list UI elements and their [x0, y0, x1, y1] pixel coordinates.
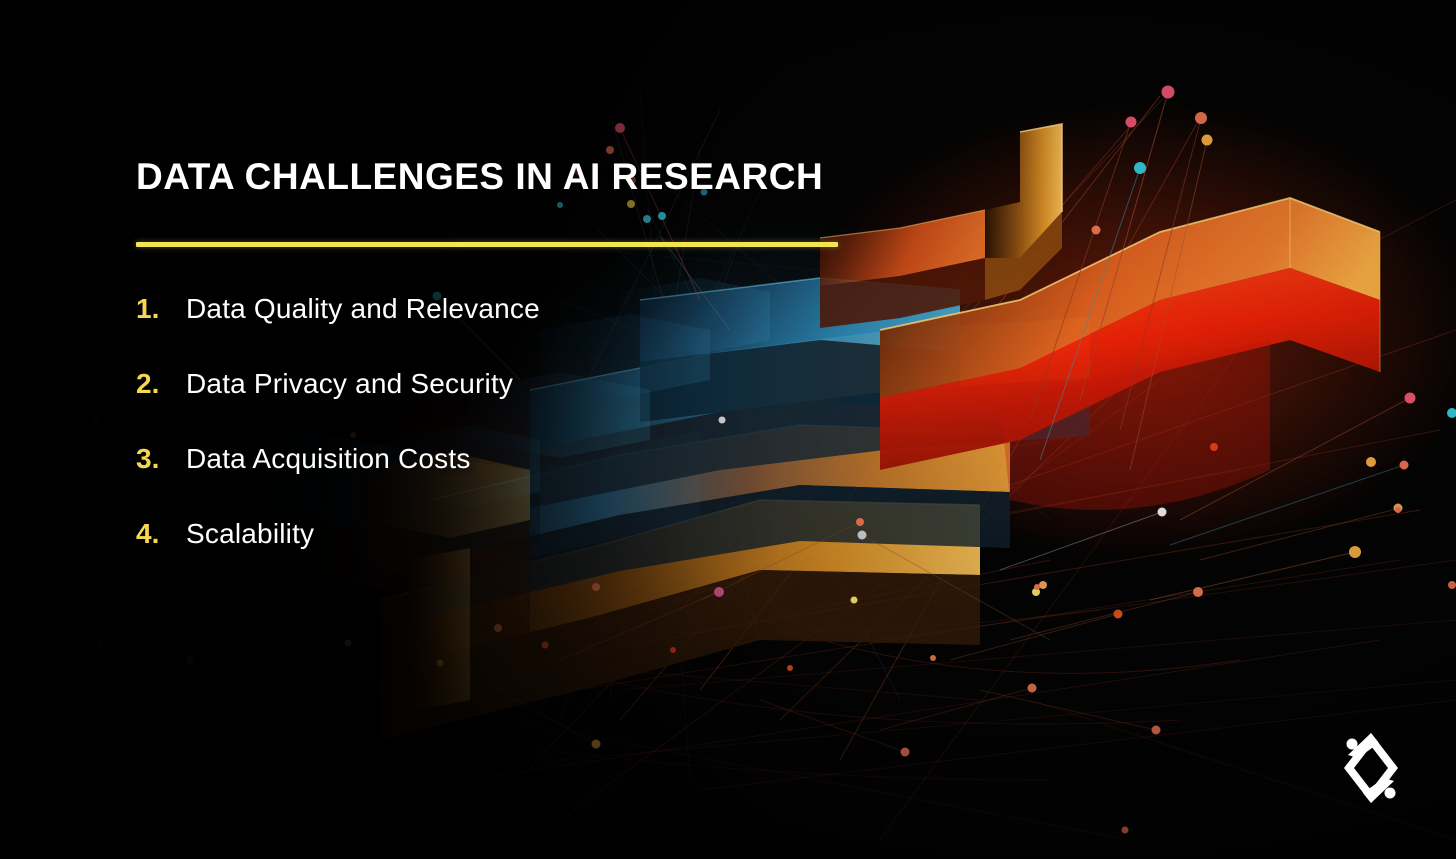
title-divider: [136, 242, 838, 247]
list-item: 2. Data Privacy and Security: [136, 368, 896, 400]
list-item-number: 1.: [136, 293, 186, 325]
page-title: DATA CHALLENGES IN AI RESEARCH: [136, 158, 896, 197]
list-item-label: Data Acquisition Costs: [186, 443, 471, 475]
list-item: 1. Data Quality and Relevance: [136, 293, 896, 325]
brand-logo-diamond-s-icon: [1338, 727, 1404, 809]
brand-logo: [1338, 727, 1404, 809]
list-item-number: 3.: [136, 443, 186, 475]
list-item-label: Data Privacy and Security: [186, 368, 513, 400]
list-item-number: 4.: [136, 518, 186, 550]
list-item-number: 2.: [136, 368, 186, 400]
list-item: 3. Data Acquisition Costs: [136, 443, 896, 475]
slide-content: DATA CHALLENGES IN AI RESEARCH 1. Data Q…: [136, 158, 896, 550]
list-item-label: Scalability: [186, 518, 314, 550]
list-item-label: Data Quality and Relevance: [186, 293, 540, 325]
challenges-list: 1. Data Quality and Relevance 2. Data Pr…: [136, 293, 896, 550]
slide-root: DATA CHALLENGES IN AI RESEARCH 1. Data Q…: [0, 0, 1456, 859]
list-item: 4. Scalability: [136, 518, 896, 550]
